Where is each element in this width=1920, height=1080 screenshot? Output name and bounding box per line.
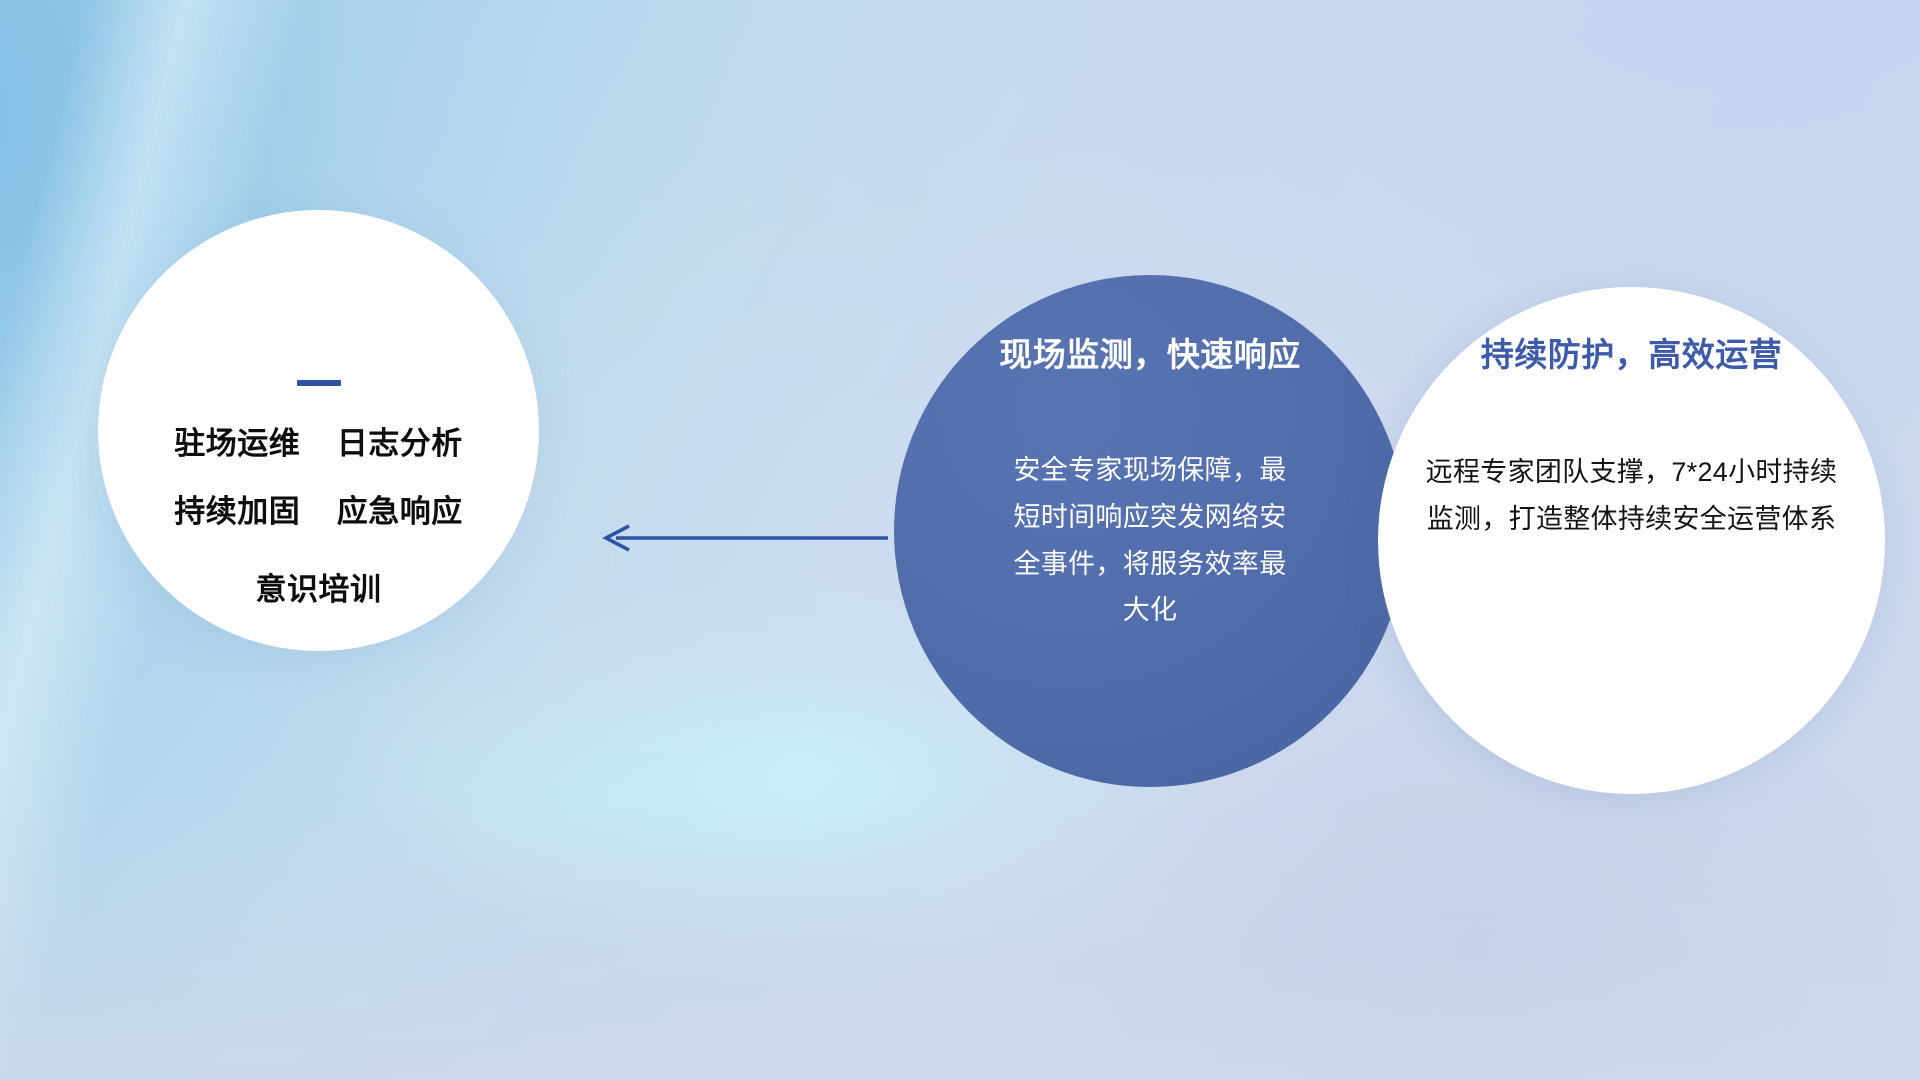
continuous-protection-title: 持续防护，高效运营 — [1481, 337, 1783, 373]
onsite-monitoring-body: 安全专家现场保障，最短时间响应突发网络安全事件，将服务效率最大化 — [1000, 447, 1300, 634]
onsite-monitoring-content: 现场监测，快速响应 安全专家现场保障，最短时间响应突发网络安全事件，将服务效率最… — [894, 275, 1406, 787]
capability-tag-row-2: 持续加固 应急响应 — [174, 496, 462, 527]
left-pointing-arrow — [600, 516, 890, 560]
capability-tags-content: 驻场运维 日志分析 持续加固 应急响应 意识培训 — [98, 210, 539, 651]
capability-tag-row-1: 驻场运维 日志分析 — [174, 428, 462, 459]
capability-tag-row-3: 意识培训 — [256, 574, 382, 605]
arrow-left-icon — [606, 526, 888, 550]
horizontal-dash-icon — [297, 380, 341, 386]
continuous-protection-content: 持续防护，高效运营 远程专家团队支撑，7*24小时持续监测，打造整体持续安全运营… — [1378, 287, 1885, 794]
slide-canvas: 驻场运维 日志分析 持续加固 应急响应 意识培训 现场监测，快速响应 安全专家现… — [0, 0, 1920, 1080]
onsite-monitoring-title: 现场监测，快速响应 — [999, 337, 1301, 373]
continuous-protection-body: 远程专家团队支撑，7*24小时持续监测，打造整体持续安全运营体系 — [1417, 449, 1847, 542]
